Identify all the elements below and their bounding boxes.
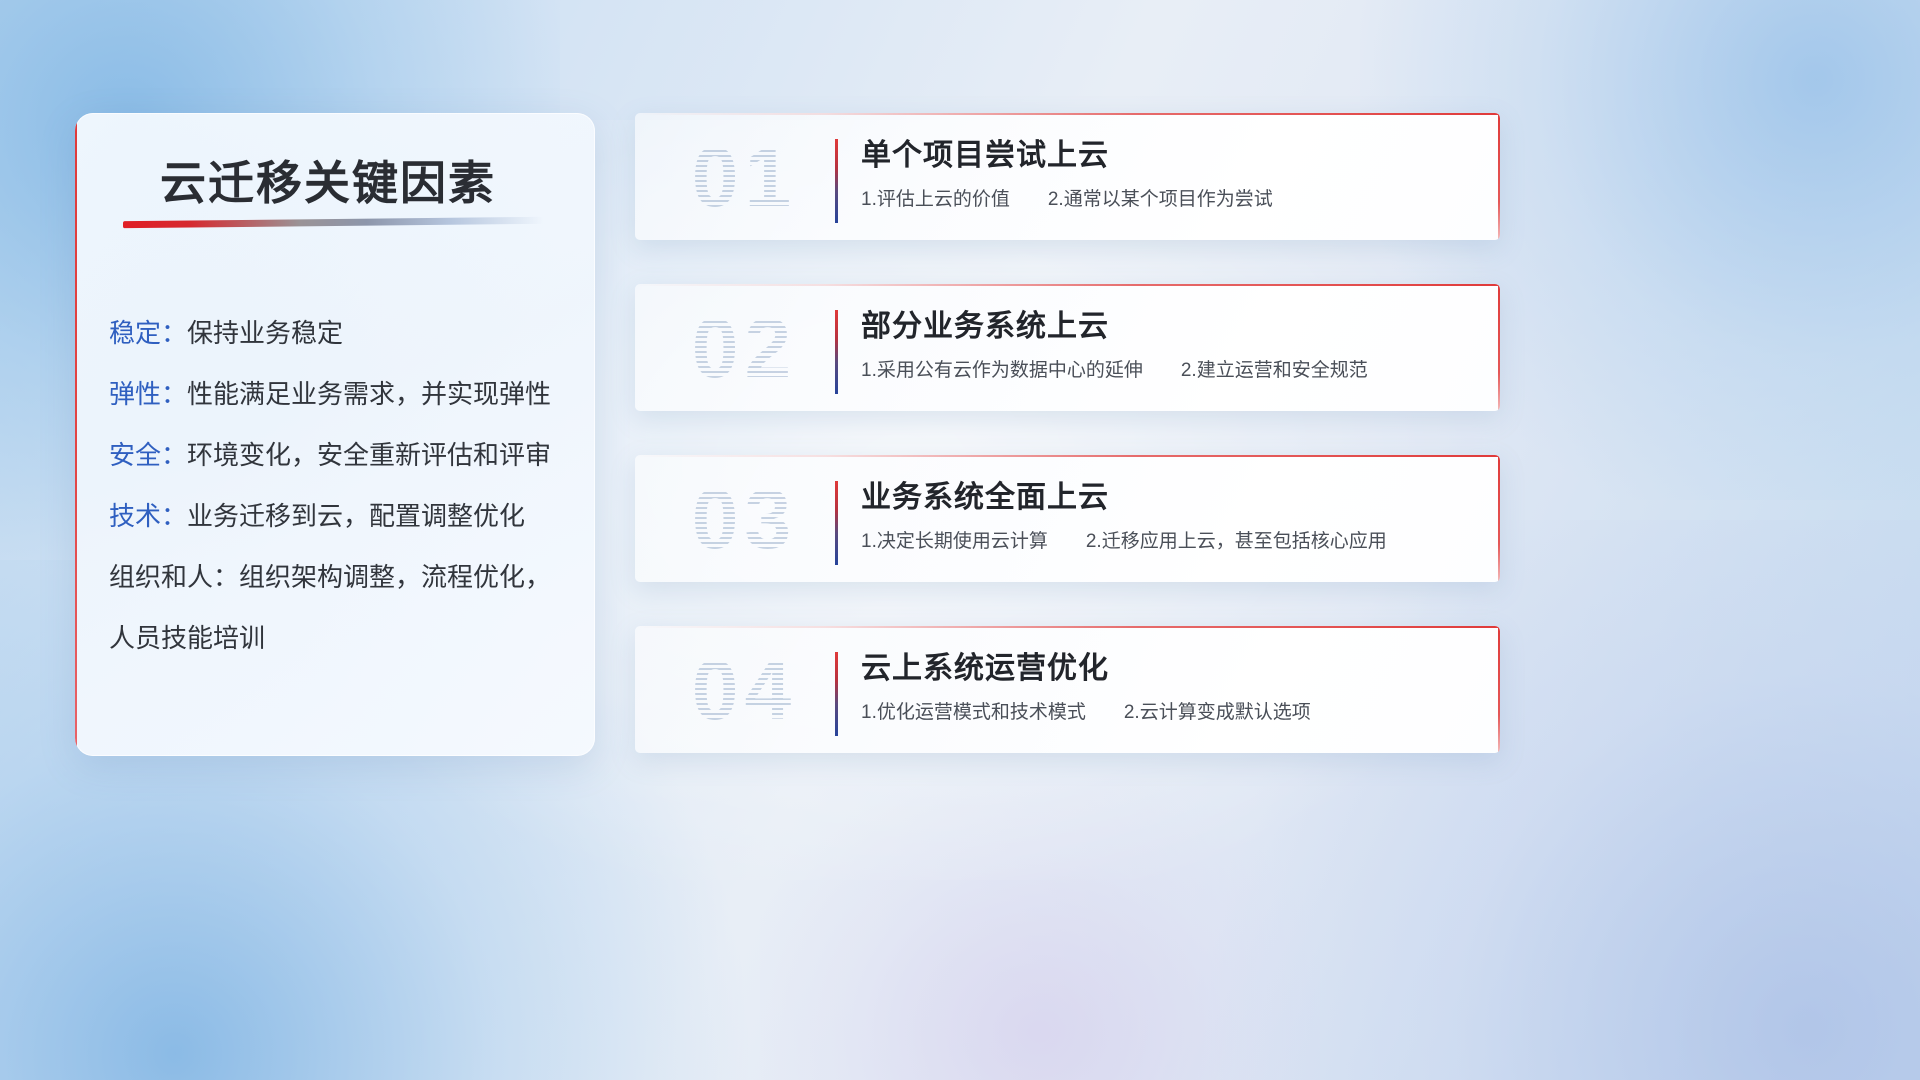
stage-accent-bar: [835, 139, 838, 223]
list-item-text: 业务迁移到云，配置调整优化: [187, 501, 525, 531]
stage-title: 单个项目尝试上云: [861, 135, 1466, 177]
stage-number-watermark: 04: [657, 640, 832, 740]
key-factors-panel: 云迁移关键因素 稳定：保持业务稳定 弹性：性能满足业务需求，并实现弹性 安全：环…: [75, 113, 595, 756]
stage-number-watermark: 01: [657, 127, 832, 227]
stage-content: 业务系统全面上云 1.决定长期使用云计算 2.迁移应用上云，甚至包括核心应用: [861, 477, 1466, 555]
stage-description: 1.优化运营模式和技术模式 2.云计算变成默认选项: [861, 700, 1466, 726]
list-item: 组织和人：组织架构调整，流程优化，人员技能培训: [109, 547, 571, 669]
stage-card[interactable]: 04 云上系统运营优化 1.优化运营模式和技术模式 2.云计算变成默认选项: [635, 626, 1500, 753]
stages-card-list: 01 单个项目尝试上云 1.评估上云的价值 2.通常以某个项目作为尝试 02 部…: [635, 113, 1500, 797]
list-item-text: 性能满足业务需求，并实现弹性: [187, 379, 551, 409]
list-item-label: 弹性：: [109, 379, 187, 409]
panel-title: 云迁移关键因素: [160, 147, 496, 213]
list-item-label: 稳定：: [109, 318, 187, 348]
stage-accent-bar: [835, 310, 838, 394]
stage-description: 1.采用公有云作为数据中心的延伸 2.建立运营和安全规范: [861, 358, 1466, 384]
stage-number-watermark: 02: [657, 298, 832, 398]
stage-content: 单个项目尝试上云 1.评估上云的价值 2.通常以某个项目作为尝试: [861, 135, 1466, 213]
stage-description: 1.决定长期使用云计算 2.迁移应用上云，甚至包括核心应用: [861, 529, 1466, 555]
list-item-label: 安全：: [109, 440, 187, 470]
stage-title: 云上系统运营优化: [861, 648, 1466, 690]
list-item: 稳定：保持业务稳定: [109, 303, 571, 364]
stage-number-watermark: 03: [657, 469, 832, 569]
stage-accent-bar: [835, 652, 838, 736]
list-item-text: 保持业务稳定: [187, 318, 343, 348]
stage-content: 云上系统运营优化 1.优化运营模式和技术模式 2.云计算变成默认选项: [861, 648, 1466, 726]
key-factors-list: 稳定：保持业务稳定 弹性：性能满足业务需求，并实现弹性 安全：环境变化，安全重新…: [109, 303, 571, 669]
list-item: 安全：环境变化，安全重新评估和评审: [109, 425, 571, 486]
stage-content: 部分业务系统上云 1.采用公有云作为数据中心的延伸 2.建立运营和安全规范: [861, 306, 1466, 384]
list-item-label: 组织和人：: [109, 562, 239, 592]
stage-card[interactable]: 01 单个项目尝试上云 1.评估上云的价值 2.通常以某个项目作为尝试: [635, 113, 1500, 240]
list-item-text: 环境变化，安全重新评估和评审: [187, 440, 551, 470]
stage-title: 业务系统全面上云: [861, 477, 1466, 519]
stage-description: 1.评估上云的价值 2.通常以某个项目作为尝试: [861, 187, 1466, 213]
stage-card[interactable]: 02 部分业务系统上云 1.采用公有云作为数据中心的延伸 2.建立运营和安全规范: [635, 284, 1500, 411]
title-underline-gradient: [123, 217, 543, 228]
list-item: 弹性：性能满足业务需求，并实现弹性: [109, 364, 571, 425]
stage-card[interactable]: 03 业务系统全面上云 1.决定长期使用云计算 2.迁移应用上云，甚至包括核心应…: [635, 455, 1500, 582]
list-item-label: 技术：: [109, 501, 187, 531]
list-item: 技术：业务迁移到云，配置调整优化: [109, 486, 571, 547]
stage-title: 部分业务系统上云: [861, 306, 1466, 348]
stage-accent-bar: [835, 481, 838, 565]
